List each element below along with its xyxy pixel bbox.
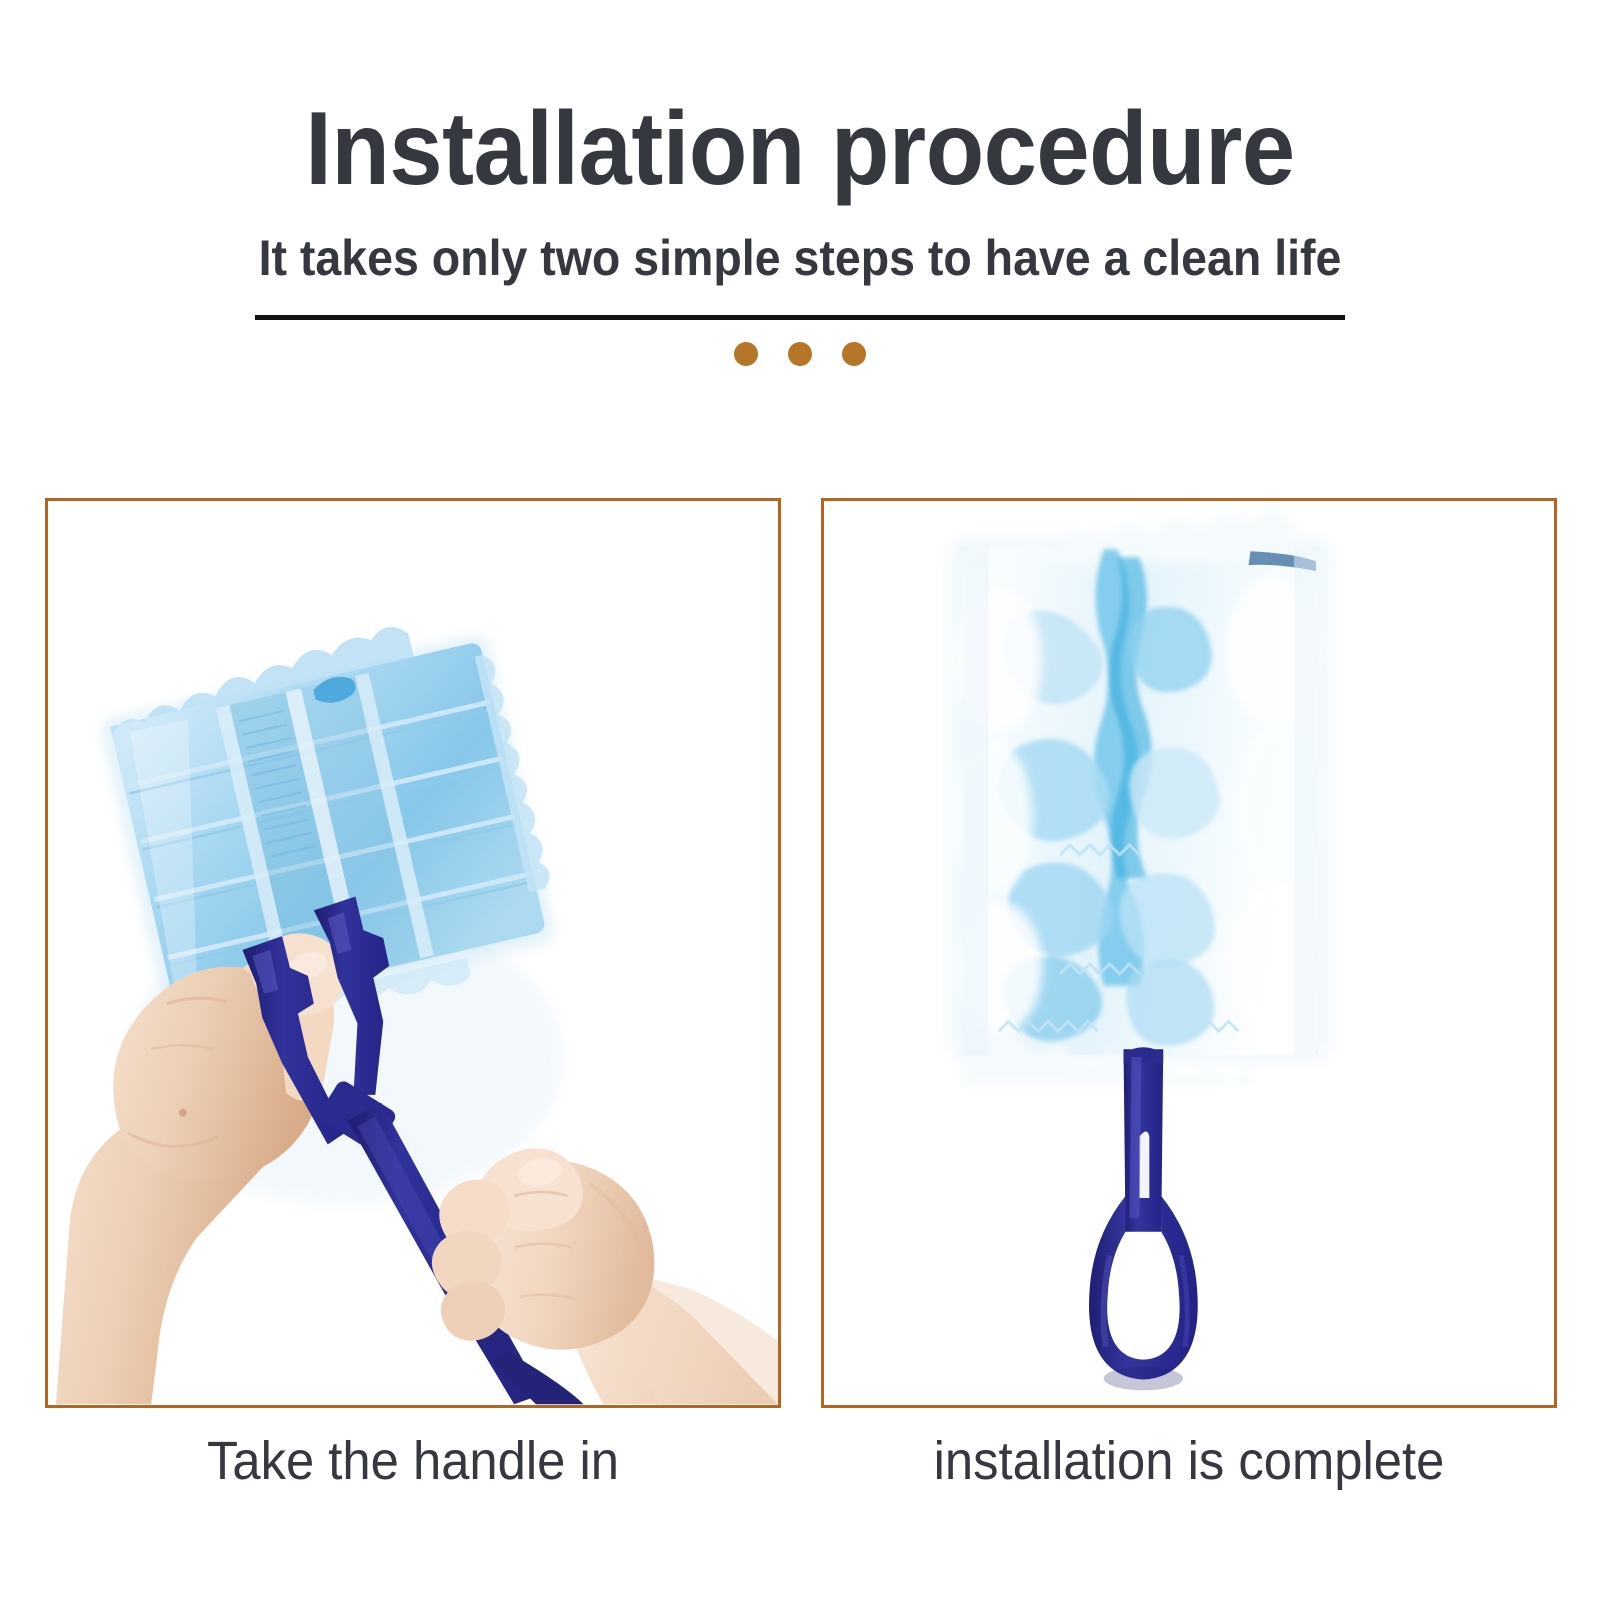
step-captions: Take the handle in installation is compl… (45, 1430, 1557, 1492)
decorative-dots (0, 342, 1600, 366)
divider (0, 315, 1600, 320)
caption-step-1: Take the handle in (67, 1430, 759, 1492)
illustration-take-the-handle-in (48, 501, 778, 1405)
right-hand (432, 1148, 778, 1404)
caption-step-2: installation is complete (843, 1430, 1535, 1492)
duster-head-assembled (949, 509, 1332, 1085)
page-header: Installation procedure It takes only two… (0, 0, 1600, 366)
dot-icon (788, 342, 812, 366)
dot-icon (842, 342, 866, 366)
illustration-installation-is-complete (824, 501, 1554, 1405)
step-panel-2 (821, 498, 1557, 1408)
duster-loop-handle (1089, 1047, 1198, 1390)
dot-icon (734, 342, 758, 366)
steps-gallery (45, 498, 1557, 1408)
page-subtitle: It takes only two simple steps to have a… (56, 232, 1544, 285)
divider-line (255, 315, 1345, 320)
step-panel-1 (45, 498, 781, 1408)
page-title: Installation procedure (64, 96, 1536, 202)
